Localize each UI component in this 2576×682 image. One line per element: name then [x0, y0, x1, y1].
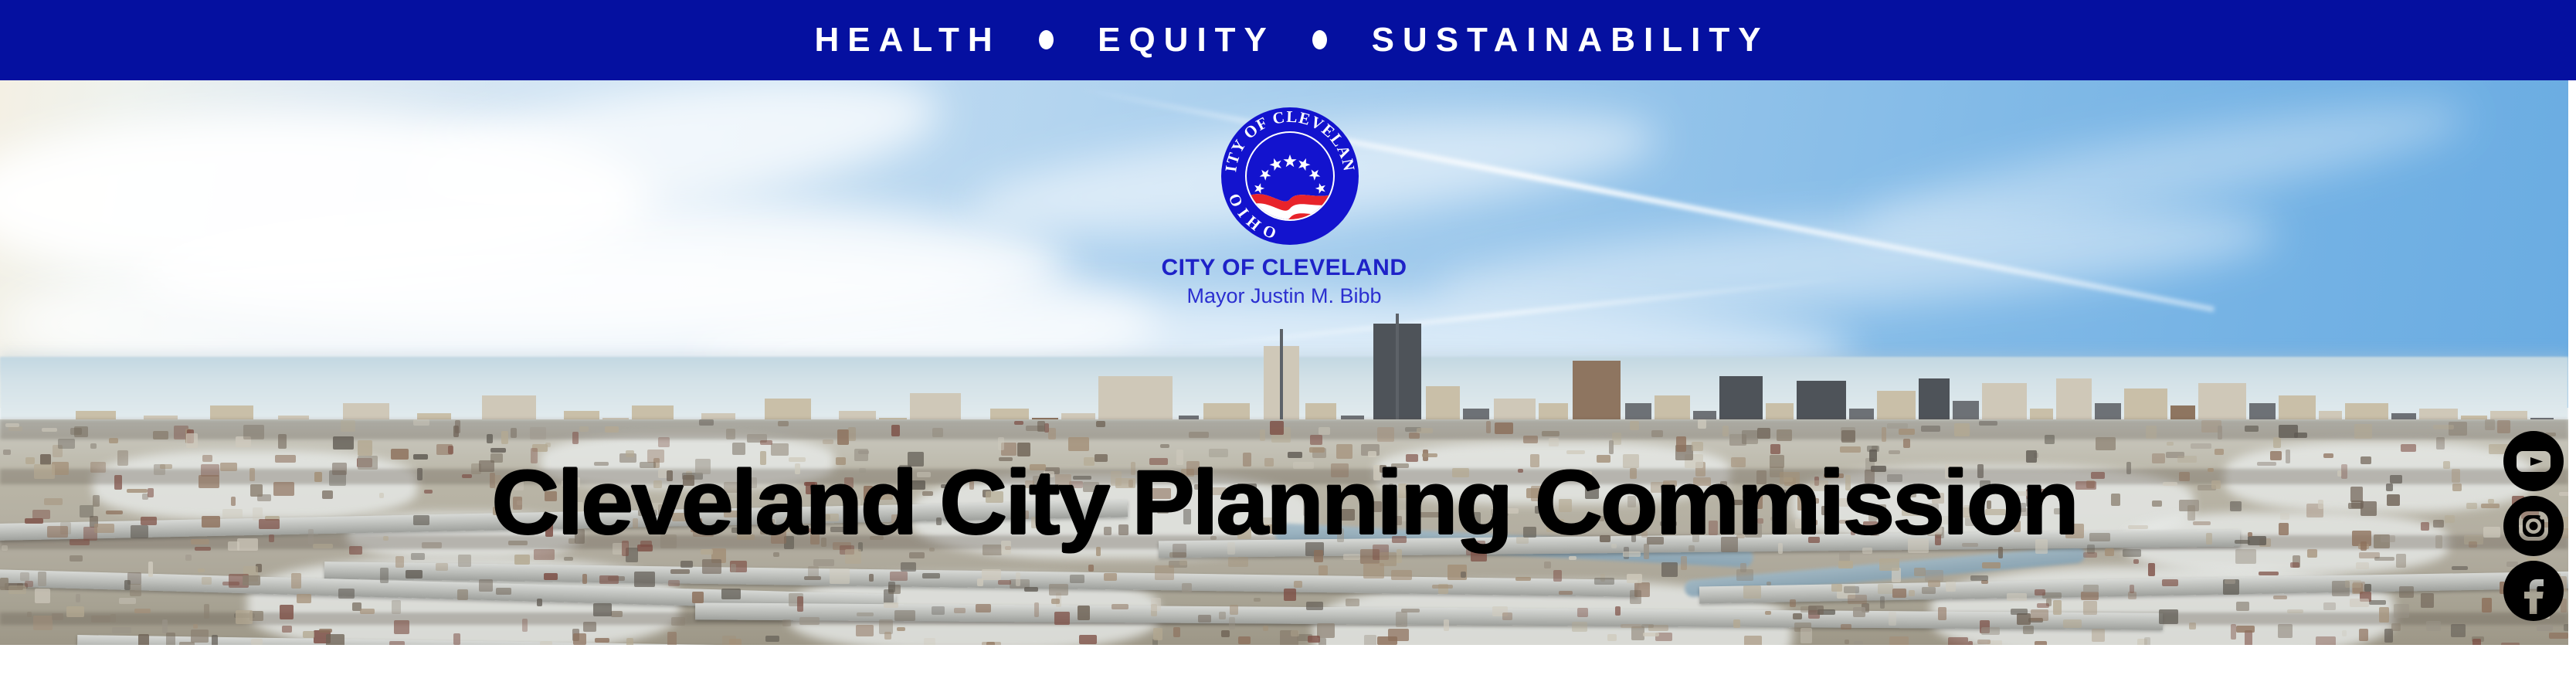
building-blob — [2144, 637, 2150, 645]
building-blob — [1607, 634, 1617, 641]
building-blob — [2379, 607, 2389, 623]
building-blob — [0, 578, 8, 590]
youtube-icon[interactable] — [2503, 431, 2564, 491]
building-blob — [1903, 439, 1910, 448]
building-blob — [282, 626, 292, 633]
building-blob — [2399, 586, 2414, 598]
building-blob — [341, 420, 355, 432]
building-blob — [2323, 602, 2336, 610]
building-blob — [1016, 572, 1020, 586]
building-blob — [1495, 422, 1513, 434]
building-blob — [2123, 549, 2141, 557]
building-blob — [884, 632, 891, 640]
building-blob — [33, 616, 53, 630]
building-blob — [856, 625, 874, 636]
building-blob — [1417, 428, 1433, 433]
bottom-gutter — [0, 645, 2576, 682]
building-blob — [2083, 601, 2097, 615]
building-blob — [2215, 449, 2224, 455]
building-blob — [1151, 598, 1161, 611]
building-blob — [1182, 583, 1192, 592]
building-blob — [2316, 636, 2336, 645]
building-blob — [901, 562, 916, 572]
building-blob — [1310, 435, 1322, 445]
building-blob — [797, 596, 803, 612]
building-blob — [76, 594, 80, 602]
building-blob — [1954, 423, 1970, 436]
building-blob — [2245, 426, 2259, 432]
building-blob — [191, 629, 209, 643]
building-blob — [243, 425, 264, 439]
building-blob — [668, 580, 680, 586]
building-blob — [1112, 604, 1128, 609]
building-blob — [1841, 624, 1851, 629]
building-blob — [1977, 640, 1991, 644]
building-blob — [595, 638, 609, 643]
building-blob — [1736, 569, 1753, 581]
building-blob — [2549, 633, 2568, 639]
building-blob — [251, 639, 263, 645]
building-blob — [2359, 629, 2368, 641]
building-blob — [119, 598, 136, 604]
building-blob — [670, 569, 690, 574]
building-blob — [1569, 556, 1576, 560]
building-blob — [291, 573, 301, 589]
building-blob — [1559, 591, 1573, 595]
building-blob — [496, 588, 511, 595]
building-blob — [2278, 624, 2293, 638]
building-blob — [1698, 419, 1706, 429]
building-blob — [813, 559, 834, 566]
building-blob — [1765, 611, 1771, 615]
building-blob — [2031, 609, 2048, 621]
building-blob — [2273, 437, 2281, 448]
tagline-word-sustainability: SUSTAINABILITY — [1372, 21, 1770, 59]
building-blob — [2364, 584, 2371, 592]
building-blob — [25, 581, 33, 587]
building-blob — [2045, 435, 2055, 444]
building-blob — [1308, 636, 1320, 643]
building-blob — [1948, 637, 1968, 645]
building-blob — [1838, 561, 1853, 568]
building-blob — [1155, 565, 1174, 580]
building-blob — [2037, 603, 2049, 608]
building-blob — [2083, 552, 2097, 558]
building-blob — [2452, 566, 2468, 570]
building-blob — [2236, 626, 2255, 633]
building-blob — [2391, 623, 2401, 631]
building-blob — [1970, 575, 1988, 581]
tagline-word-equity: EQUITY — [1098, 21, 1274, 59]
building-blob — [2081, 592, 2099, 600]
building-blob — [319, 629, 332, 633]
building-blob — [1026, 426, 1044, 431]
building-blob — [1889, 636, 1909, 645]
tagline-word-health: HEALTH — [814, 21, 1000, 59]
building-blob — [680, 561, 693, 568]
building-blob — [2354, 424, 2372, 439]
building-blob — [1630, 421, 1639, 430]
page-root: HEALTH EQUITY SUSTAINABILITY — [0, 0, 2576, 682]
instagram-icon[interactable] — [2503, 496, 2564, 556]
building-blob — [731, 564, 736, 572]
building-blob — [1681, 556, 1687, 570]
building-blob — [1461, 572, 1466, 578]
social-media-rail — [2503, 431, 2564, 621]
building-blob — [2307, 549, 2317, 558]
building-blob — [436, 563, 448, 571]
building-blob — [198, 568, 205, 572]
building-blob — [1889, 612, 1896, 626]
building-blob — [692, 592, 704, 603]
building-blob — [134, 609, 151, 613]
building-blob — [1621, 624, 1641, 628]
building-blob — [1800, 628, 1812, 643]
building-blob — [1793, 613, 1802, 619]
building-blob — [579, 426, 589, 432]
building-blob — [1641, 624, 1654, 628]
building-blob — [1744, 636, 1762, 645]
building-blob — [611, 611, 623, 617]
building-blob — [1396, 612, 1407, 627]
building-blob — [1051, 599, 1060, 604]
building-blob — [593, 603, 612, 616]
building-blob — [1228, 557, 1248, 567]
building-blob — [1229, 617, 1235, 629]
building-blob — [2023, 626, 2034, 634]
building-blob — [511, 428, 517, 438]
building-blob — [392, 600, 401, 614]
building-blob — [1808, 606, 1824, 615]
building-blob — [599, 575, 619, 584]
building-blob — [1254, 598, 1261, 602]
building-blob — [857, 612, 874, 616]
building-blob — [2394, 604, 2409, 618]
building-blob — [2092, 629, 2105, 642]
building-blob — [2218, 426, 2222, 439]
building-blob — [1887, 423, 1908, 429]
building-blob — [1291, 630, 1299, 636]
building-blob — [280, 605, 294, 619]
building-blob — [130, 584, 141, 596]
building-blob — [2007, 593, 2027, 601]
building-blob — [193, 624, 198, 629]
building-blob — [1615, 606, 1621, 616]
building-blob — [924, 638, 935, 645]
building-blob — [2485, 419, 2495, 430]
building-blob — [202, 577, 212, 585]
building-blob — [1914, 568, 1926, 576]
building-blob — [1981, 627, 2000, 635]
building-blob — [1319, 565, 1328, 575]
building-blob — [1878, 584, 1893, 594]
building-blob — [2162, 579, 2178, 586]
building-blob — [1014, 421, 1023, 425]
building-blob — [888, 582, 895, 592]
building-blob — [236, 610, 253, 624]
building-blob — [830, 568, 850, 584]
building-blob — [1515, 577, 1531, 581]
building-blob — [702, 559, 721, 574]
building-blob — [1198, 615, 1211, 623]
building-blob — [998, 580, 1011, 585]
building-blob — [545, 443, 551, 447]
building-blob — [1831, 584, 1842, 592]
building-blob — [185, 555, 192, 561]
building-blob — [782, 619, 791, 626]
building-blob — [2231, 624, 2236, 640]
building-blob — [530, 427, 546, 439]
building-blob — [2096, 437, 2116, 450]
building-blob — [726, 429, 735, 439]
building-blob — [303, 631, 314, 638]
building-blob — [1630, 590, 1641, 604]
building-blob — [1173, 627, 1180, 637]
building-blob — [1892, 589, 1906, 598]
building-blob — [1553, 570, 1562, 582]
building-blob — [894, 610, 915, 621]
building-blob — [406, 570, 423, 579]
building-blob — [1153, 628, 1162, 640]
building-blob — [634, 572, 655, 587]
building-blob — [1034, 602, 1039, 617]
building-blob — [514, 555, 530, 565]
building-blob — [1922, 587, 1936, 594]
building-blob — [2053, 600, 2062, 615]
building-blob — [297, 594, 311, 603]
building-blob — [2426, 621, 2441, 631]
building-blob — [394, 620, 409, 634]
building-blob — [1068, 437, 1089, 451]
building-blob — [1270, 421, 1284, 435]
building-blob — [411, 553, 425, 560]
building-blob — [671, 617, 685, 626]
building-blob — [1260, 429, 1265, 441]
building-blob — [583, 622, 596, 632]
building-blob — [1549, 438, 1559, 446]
building-blob — [2294, 433, 2307, 438]
building-blob — [890, 572, 908, 581]
building-blob — [153, 431, 168, 439]
building-blob — [626, 638, 633, 645]
building-blob — [66, 606, 84, 617]
building-blob — [1444, 619, 1449, 631]
building-blob — [848, 427, 856, 441]
building-blob — [1844, 586, 1859, 593]
building-blob — [5, 423, 19, 427]
building-blob — [1777, 429, 1792, 441]
building-blob — [1909, 590, 1915, 596]
tagline-banner: HEALTH EQUITY SUSTAINABILITY — [0, 0, 2576, 80]
page-title: Cleveland City Planning Commission — [0, 457, 2576, 548]
building-blob — [760, 440, 772, 445]
building-blob — [1733, 619, 1740, 628]
building-blob — [1319, 427, 1330, 435]
building-blob — [1946, 582, 1956, 592]
building-blob — [932, 428, 943, 437]
building-blob — [1523, 436, 1538, 443]
building-blob — [326, 634, 344, 645]
building-blob — [2342, 630, 2347, 636]
building-blob — [1238, 636, 1251, 644]
building-blob — [1742, 430, 1758, 444]
building-blob — [2273, 595, 2287, 599]
building-blob — [457, 589, 468, 600]
facebook-icon[interactable] — [2503, 561, 2564, 621]
building-blob — [1432, 585, 1453, 589]
building-blob — [1096, 421, 1105, 427]
building-blob — [243, 575, 260, 585]
building-blob — [333, 436, 354, 450]
building-blob — [1078, 606, 1090, 620]
building-blob — [1790, 599, 1796, 607]
building-blob — [458, 555, 471, 567]
building-blob — [1899, 429, 1915, 435]
building-blob — [1692, 442, 1703, 451]
building-blob — [2011, 609, 2028, 615]
building-blob — [667, 632, 677, 645]
building-blob — [413, 419, 429, 426]
building-blob — [582, 574, 587, 584]
building-blob — [1841, 430, 1855, 443]
building-blob — [186, 433, 198, 448]
building-blob — [729, 639, 742, 645]
building-blob — [20, 572, 29, 581]
building-blob — [564, 557, 573, 561]
building-blob — [1079, 635, 1097, 644]
building-blob — [358, 440, 372, 456]
building-blob — [1879, 558, 1899, 571]
building-blob — [2259, 572, 2279, 575]
building-blob — [1024, 587, 1038, 592]
building-blob — [1380, 552, 1397, 566]
building-blob — [35, 589, 50, 603]
building-blob — [2148, 563, 2155, 576]
building-blob — [2396, 554, 2406, 568]
building-blob — [1577, 608, 1588, 617]
building-blob — [1104, 573, 1117, 581]
building-blob — [1643, 633, 1659, 636]
building-blob — [897, 627, 905, 631]
building-blob — [1391, 570, 1412, 580]
building-blob — [2451, 624, 2466, 637]
building-blob — [1294, 581, 1302, 588]
building-blob — [2350, 599, 2369, 607]
building-blob — [1938, 607, 1946, 620]
building-blob — [1845, 640, 1849, 644]
building-blob — [2433, 425, 2454, 429]
building-blob — [1306, 602, 1323, 610]
building-blob — [1627, 574, 1642, 583]
building-blob — [1594, 578, 1614, 585]
building-blob — [1230, 605, 1238, 615]
building-blob — [2436, 437, 2445, 450]
building-blob — [501, 431, 508, 444]
building-blob — [162, 619, 168, 633]
building-blob — [3, 450, 11, 455]
building-blob — [1572, 622, 1587, 632]
building-blob — [2290, 562, 2299, 568]
building-blob — [1189, 432, 1209, 438]
building-blob — [2017, 613, 2031, 625]
building-blob — [2356, 562, 2369, 569]
building-blob — [1925, 570, 1943, 582]
building-blob — [954, 608, 966, 613]
building-blob — [2225, 579, 2235, 584]
building-blob — [1502, 612, 1512, 620]
building-blob — [1979, 421, 1997, 426]
building-blob — [2235, 549, 2256, 564]
building-blob — [1401, 609, 1420, 612]
building-blob — [891, 425, 900, 436]
building-blob — [380, 568, 389, 583]
building-blob — [27, 612, 32, 617]
building-blob — [1651, 430, 1663, 437]
building-blob — [2105, 548, 2114, 556]
building-blob — [699, 419, 714, 426]
building-blob — [808, 566, 819, 579]
building-blob — [90, 443, 97, 449]
building-blob — [1179, 559, 1187, 565]
building-blob — [1743, 585, 1761, 599]
building-blob — [572, 432, 579, 444]
building-blob — [982, 569, 1001, 580]
building-blob — [1722, 426, 1729, 436]
building-blob — [823, 439, 833, 444]
building-blob — [2537, 625, 2553, 631]
building-blob — [922, 573, 940, 579]
building-blob — [1409, 433, 1420, 439]
building-blob — [2133, 559, 2139, 564]
building-blob — [1982, 562, 2001, 568]
building-blob — [522, 619, 528, 632]
building-blob — [544, 573, 558, 580]
building-blob — [2236, 602, 2249, 611]
building-blob — [148, 562, 153, 577]
building-blob — [2191, 443, 2211, 449]
building-blob — [109, 438, 118, 443]
building-blob — [2159, 609, 2178, 624]
building-blob — [932, 606, 945, 615]
building-blob — [1219, 612, 1226, 619]
tagline-separator-dot-2 — [1312, 30, 1327, 49]
building-blob — [1848, 595, 1867, 604]
building-blob — [1346, 599, 1359, 606]
tagline-separator-dot-1 — [1039, 30, 1054, 49]
building-blob — [1757, 428, 1770, 439]
building-blob — [112, 627, 131, 633]
building-blob — [2035, 589, 2045, 595]
building-blob — [453, 633, 460, 645]
building-blob — [455, 420, 460, 433]
building-blob — [479, 579, 493, 592]
building-blob — [1049, 584, 1068, 595]
building-blob — [138, 634, 149, 645]
building-blob — [1088, 565, 1094, 572]
building-blob — [2063, 619, 2082, 628]
building-blob — [2345, 580, 2361, 588]
building-blob — [2130, 585, 2134, 593]
building-blob — [204, 604, 209, 619]
building-blob — [70, 428, 82, 435]
building-blob — [1263, 626, 1268, 631]
building-blob — [799, 617, 820, 625]
building-blob — [8, 585, 26, 594]
building-blob — [2189, 623, 2196, 629]
building-blob — [658, 437, 670, 447]
building-blob — [1054, 612, 1070, 625]
building-blob — [70, 555, 83, 562]
